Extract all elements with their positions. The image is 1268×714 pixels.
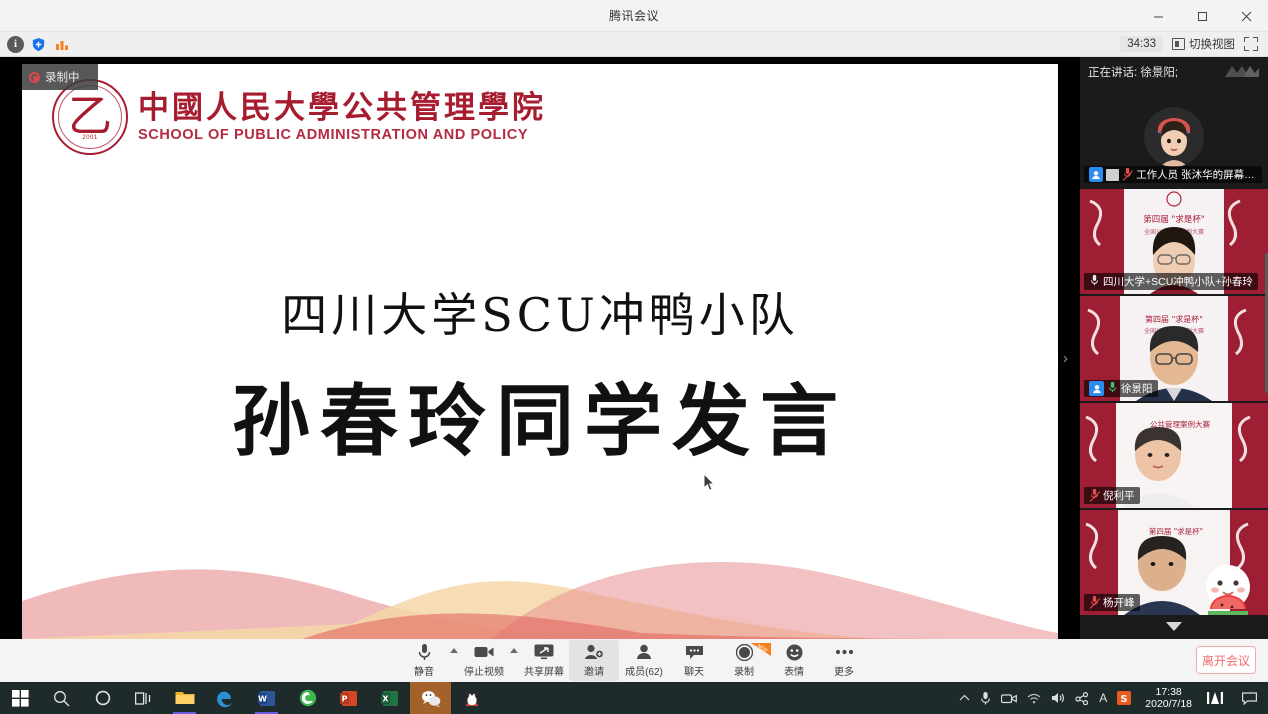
chat-button[interactable]: 聊天 bbox=[669, 640, 719, 681]
microphone-muted-icon bbox=[1089, 595, 1100, 610]
tile-name: 四川大学+SCU冲鸭小队+孙春玲 bbox=[1103, 274, 1253, 289]
chevron-down-icon bbox=[1166, 622, 1182, 631]
members-label: 成员(62) bbox=[625, 663, 663, 678]
clock[interactable]: 17:38 2020/7/18 bbox=[1141, 686, 1196, 710]
meeting-controls-right: 34:33 切换视图 bbox=[1120, 36, 1268, 52]
seal-year: 2001 bbox=[82, 135, 97, 141]
slide-subtitle: 四川大学SCU冲鸭小队 bbox=[22, 279, 1058, 345]
clock-date: 2020/7/18 bbox=[1145, 698, 1192, 710]
window-controls bbox=[1136, 0, 1268, 32]
video-tile[interactable]: 公共管理案例大赛 倪利平 bbox=[1080, 403, 1268, 508]
logo-english-name: SCHOOL OF PUBLIC ADMINISTRATION AND POLI… bbox=[138, 127, 546, 143]
seal-glyph: 乙 bbox=[68, 95, 112, 139]
emoji-icon bbox=[786, 643, 803, 661]
microphone-on-icon bbox=[1107, 381, 1118, 396]
tile-label: 杨开峰 bbox=[1084, 594, 1140, 611]
chat-icon bbox=[685, 643, 704, 661]
mouse-cursor bbox=[703, 473, 716, 492]
university-seal-icon: 乙 2001 bbox=[52, 79, 128, 155]
layout-icon bbox=[1172, 38, 1185, 50]
microphone-muted-icon bbox=[1122, 167, 1133, 182]
info-icon[interactable]: i bbox=[7, 36, 24, 53]
network-stats-icon[interactable] bbox=[53, 36, 70, 53]
meeting-toolbar: 静音 停止视频 共享屏幕 邀请 成员(62) bbox=[0, 639, 1268, 682]
record-dot-icon bbox=[29, 72, 40, 83]
close-button[interactable] bbox=[1224, 0, 1268, 32]
word-icon[interactable]: W bbox=[246, 682, 287, 714]
more-icon bbox=[835, 643, 854, 661]
minimize-button[interactable] bbox=[1136, 0, 1180, 32]
chevron-right-icon[interactable]: › bbox=[1063, 350, 1068, 367]
tile-label: 四川大学+SCU冲鸭小队+孙春玲 bbox=[1084, 273, 1258, 290]
mute-label: 静音 bbox=[414, 663, 434, 678]
recording-label: 录制中 bbox=[45, 69, 80, 85]
emoji-label: 表情 bbox=[784, 663, 804, 678]
clock-time: 17:38 bbox=[1156, 686, 1182, 698]
svg-text:S: S bbox=[1121, 694, 1128, 705]
volume-icon[interactable] bbox=[1051, 692, 1065, 704]
mic-options-caret[interactable] bbox=[449, 640, 459, 681]
avatar bbox=[1144, 107, 1204, 167]
host-badge-icon bbox=[1089, 167, 1103, 182]
notification-icon[interactable] bbox=[1234, 682, 1264, 714]
tile-name: 杨开峰 bbox=[1103, 595, 1135, 610]
search-icon[interactable] bbox=[41, 682, 82, 714]
screen-share-badge-icon bbox=[1106, 169, 1119, 181]
slide-headline: 四川大学SCU冲鸭小队 孙春玲同学发言 bbox=[22, 279, 1058, 471]
host-badge-icon bbox=[1089, 381, 1104, 396]
video-tile[interactable]: 第四届 "求是杯" 全国公共管理案例大赛 徐景阳 bbox=[1080, 296, 1268, 401]
stop-video-label: 停止视频 bbox=[464, 663, 504, 678]
switch-view-button[interactable]: 切换视图 bbox=[1172, 36, 1235, 52]
microphone-icon[interactable] bbox=[980, 691, 991, 705]
meeting-info-icons: i bbox=[0, 36, 70, 53]
record-icon bbox=[736, 643, 753, 661]
invite-label: 邀请 bbox=[584, 663, 604, 678]
meeting-timer: 34:33 bbox=[1120, 36, 1163, 52]
switch-view-label: 切换视图 bbox=[1189, 36, 1235, 52]
mute-button[interactable]: 静音 bbox=[399, 640, 449, 681]
tile-name: 徐景阳 bbox=[1121, 381, 1153, 396]
microphone-muted-icon bbox=[1089, 488, 1100, 503]
windows-taskbar: W P X A S bbox=[0, 682, 1268, 714]
logo-chinese-name: 中國人民大學公共管理學院 bbox=[138, 91, 546, 127]
share-screen-button[interactable]: 共享屏幕 bbox=[519, 640, 569, 681]
shared-screen[interactable]: 录制中 乙 2001 中國人民大學公共管理學院 SCHOOL OF PUBLIC… bbox=[22, 64, 1058, 639]
edge-icon[interactable] bbox=[205, 682, 246, 714]
slide-decoration bbox=[22, 529, 1058, 639]
invite-button[interactable]: 邀请 bbox=[569, 640, 619, 681]
qq-icon[interactable] bbox=[451, 682, 492, 714]
recording-badge: 录制中 bbox=[22, 64, 98, 90]
shield-icon[interactable] bbox=[30, 36, 47, 53]
wechat-icon[interactable] bbox=[410, 682, 451, 714]
svg-text:第四届 "求是杯": 第四届 "求是杯" bbox=[1149, 526, 1203, 536]
task-view-icon[interactable] bbox=[123, 682, 164, 714]
camera-icon bbox=[474, 643, 494, 661]
tray-overflow-icon[interactable] bbox=[959, 694, 970, 702]
video-panel: 正在讲话: 徐景阳; bbox=[1080, 57, 1268, 639]
active-speaker-label: 正在讲话: 徐景阳; bbox=[1088, 64, 1178, 80]
svg-text:P: P bbox=[341, 694, 347, 703]
app-watermark-icon bbox=[1224, 63, 1260, 78]
tile-label: 徐景阳 bbox=[1084, 380, 1158, 397]
wifi-icon[interactable] bbox=[1027, 693, 1041, 704]
tile-label: 工作人员 张沐华的屏幕共享 bbox=[1084, 166, 1262, 183]
sogou-icon[interactable]: S bbox=[1117, 691, 1131, 705]
more-label: 更多 bbox=[834, 663, 854, 678]
system-tray: A S 17:38 2020/7/18 bbox=[959, 682, 1268, 714]
title-bar: 腾讯会议 bbox=[0, 0, 1268, 32]
leave-meeting-button[interactable]: 离开会议 bbox=[1196, 646, 1256, 674]
share-screen-label: 共享屏幕 bbox=[524, 663, 564, 678]
emoji-button[interactable]: 表情 bbox=[769, 640, 819, 681]
maximize-button[interactable] bbox=[1180, 0, 1224, 32]
slide-title: 孙春玲同学发言 bbox=[22, 359, 1058, 471]
invite-icon bbox=[584, 643, 604, 661]
start-icon[interactable] bbox=[0, 682, 41, 714]
svg-text:X: X bbox=[382, 694, 389, 703]
excel-icon[interactable]: X bbox=[369, 682, 410, 714]
chat-label: 聊天 bbox=[684, 663, 704, 678]
powerpoint-icon[interactable]: P bbox=[328, 682, 369, 714]
meeting-stage: 录制中 乙 2001 中國人民大學公共管理學院 SCHOOL OF PUBLIC… bbox=[0, 57, 1268, 639]
fullscreen-icon[interactable] bbox=[1244, 37, 1258, 51]
record-button[interactable]: 录制 NEW bbox=[719, 640, 769, 681]
tile-name: 倪利平 bbox=[1103, 488, 1135, 503]
camera-icon[interactable] bbox=[1001, 693, 1017, 704]
share-screen-icon bbox=[534, 643, 554, 661]
members-button[interactable]: 成员(62) bbox=[619, 640, 669, 681]
institution-logo: 乙 2001 中國人民大學公共管理學院 SCHOOL OF PUBLIC ADM… bbox=[52, 79, 546, 155]
cortana-icon[interactable] bbox=[82, 682, 123, 714]
svg-text:第四届 "求是杯": 第四届 "求是杯" bbox=[1145, 314, 1203, 324]
tile-name: 工作人员 张沐华的屏幕共享 bbox=[1136, 167, 1257, 182]
microphone-icon bbox=[417, 643, 432, 661]
new-badge-icon: NEW bbox=[751, 643, 771, 656]
camera-options-caret[interactable] bbox=[509, 640, 519, 681]
window-title: 腾讯会议 bbox=[609, 7, 659, 24]
members-icon bbox=[635, 643, 653, 661]
tile-label: 倪利平 bbox=[1084, 487, 1140, 504]
sticker-overlay-icon bbox=[1196, 561, 1260, 625]
video-tile[interactable]: 第四届 "求是杯" 全国公共管理案例大赛 四川大学+SCU冲鸭小队+孙春玲 bbox=[1080, 189, 1268, 294]
browser-360-icon[interactable] bbox=[287, 682, 328, 714]
stop-video-button[interactable]: 停止视频 bbox=[459, 640, 509, 681]
more-button[interactable]: 更多 bbox=[819, 640, 869, 681]
share-icon[interactable] bbox=[1075, 692, 1089, 705]
svg-text:W: W bbox=[258, 694, 267, 703]
active-speaker-bar: 正在讲话: 徐景阳; bbox=[1080, 57, 1268, 87]
record-label: 录制 bbox=[734, 663, 754, 678]
file-explorer-icon[interactable] bbox=[164, 682, 205, 714]
ime-icon[interactable]: A bbox=[1099, 691, 1107, 705]
svg-text:第四届 "求是杯": 第四届 "求是杯" bbox=[1143, 214, 1205, 225]
meeting-info-bar: i 34:33 切换视图 bbox=[0, 32, 1268, 57]
video-tile[interactable]: 工作人员 张沐华的屏幕共享 bbox=[1080, 87, 1268, 187]
media-icon[interactable] bbox=[1206, 690, 1224, 706]
microphone-on-icon bbox=[1089, 274, 1100, 289]
